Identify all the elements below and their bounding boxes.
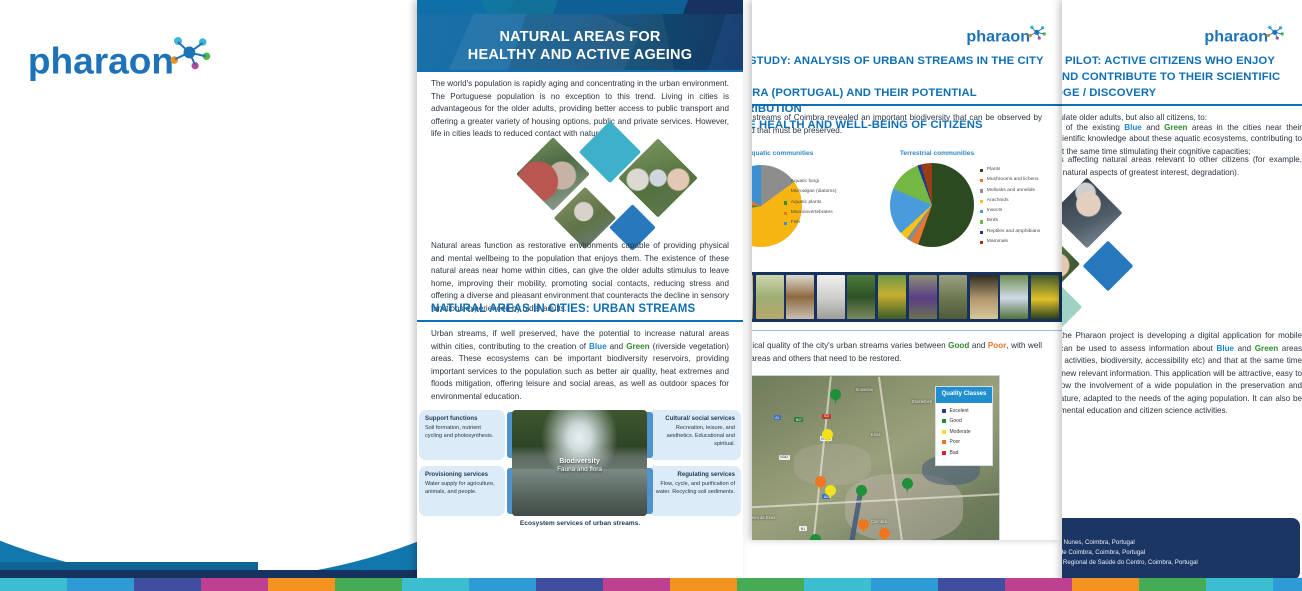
svg-text:pharaon: pharaon	[966, 27, 1030, 45]
map-legend-swatch	[942, 409, 946, 413]
photo-older-couple-smiling	[1062, 230, 1080, 298]
eco-card-cultural-text: Recreation, leisure, and aesthetics. Edu…	[667, 425, 735, 447]
legend-swatch	[980, 241, 983, 244]
legend-item: Mollusks and annelids	[980, 189, 1062, 194]
legend-swatch	[980, 179, 983, 182]
strip-segment	[1005, 578, 1072, 591]
legend-swatch	[980, 169, 983, 172]
strip-segment	[134, 578, 201, 591]
strip-segment	[938, 578, 1005, 591]
eco-card-regulating-title: Regulating services	[654, 471, 735, 480]
strip-segment	[0, 578, 67, 591]
legend-label: Fish	[791, 221, 800, 226]
pharaon-asterisk-logo	[170, 37, 210, 69]
cover-title-line1: PORTUGUESE PILOT	[24, 288, 384, 316]
species-thumb	[878, 275, 906, 319]
eco-card-cultural-title: Cultural/ social services	[654, 415, 735, 424]
legend-item: Fish	[784, 221, 889, 226]
map-label: Eiras	[871, 432, 881, 437]
legend-label: Arachnids	[987, 199, 1009, 204]
page2-header-line1: CASE STUDY: ANALYSIS OF URBAN STREAMS IN…	[752, 53, 1044, 85]
map-pin-good[interactable]	[902, 478, 913, 493]
eco-card-support-title: Support functions	[425, 415, 499, 424]
strip-segment	[201, 578, 268, 591]
page2-header-rule	[752, 104, 1062, 106]
page2-pharaon-logo: pharaon	[964, 24, 1050, 48]
legend-label: Aquatic fungi	[791, 180, 819, 185]
page-2: pharaon CASE STUDY: ANALYSIS OF URBAN	[752, 0, 1062, 540]
strip-segment	[804, 578, 871, 591]
cover-title: PORTUGUESE PILOT FACTSHEET	[24, 288, 384, 352]
svg-text:pharaon: pharaon	[1204, 27, 1268, 45]
eco-center-photo-stream: Biodiversity Fauna and flora	[512, 410, 647, 516]
legend-swatch	[784, 191, 787, 194]
map-road-shield: N1	[799, 526, 806, 531]
legend-item: Microalgae (diatoms)	[784, 190, 889, 195]
legend-item: Arachnids	[980, 199, 1062, 204]
eco-card-provisioning-text: Water supply for agriculture, animals, a…	[425, 481, 495, 495]
strip-segment	[1139, 578, 1206, 591]
species-thumb	[817, 275, 845, 319]
map-quality-legend: Quality Classes ExcelentGoodModeratePoor…	[935, 386, 993, 466]
page1-header-line2: HEALTHY AND ACTIVE AGEING	[417, 46, 743, 64]
pharaon-logo: pharaon	[26, 33, 216, 89]
page2-intro: The urban streams of Coimbra revealed an…	[752, 112, 1042, 137]
eco-card-provisioning: Provisioning services Water supply for a…	[419, 466, 505, 516]
strip-segment	[1273, 578, 1302, 591]
map-legend-swatch	[942, 430, 946, 434]
map-pin-poor[interactable]	[858, 519, 869, 534]
legend-label: Reptiles and amphibians	[987, 230, 1041, 235]
page2-water-quality-text: The ecological quality of the city's urb…	[752, 340, 1042, 365]
footer-line: Instituto Pedro Nunes, Coimbra, Portugal	[1062, 538, 1288, 548]
map-pin-good[interactable]	[810, 534, 821, 540]
map-legend-title: Quality Classes	[936, 387, 992, 403]
eco-center-title: Biodiversity	[559, 457, 600, 465]
legend-swatch	[784, 181, 787, 184]
chart-terrestrial-title: Terrestrial communities	[872, 150, 1002, 157]
legend-label: Plants	[987, 168, 1001, 173]
map-legend-item: Poor	[942, 439, 987, 445]
map-legend-label: Excelent	[950, 408, 969, 414]
legend-swatch	[784, 212, 787, 215]
map-road-shield: N17	[794, 417, 803, 422]
map-legend-swatch	[942, 451, 946, 455]
page2-coimbra-quality-map[interactable]: Souselas Brasfemes Eiras Ribeira de Eira…	[752, 375, 1000, 540]
species-thumb	[939, 275, 967, 319]
strip-segment	[737, 578, 804, 591]
map-label: Ribeira de Eiras	[752, 515, 775, 520]
strip-segment	[1206, 578, 1273, 591]
strip-segment	[335, 578, 402, 591]
page3-closing-text: In this context, the Pharaon project is …	[1062, 330, 1302, 418]
page3-bullet-3: Report problems affecting natural areas …	[1062, 154, 1302, 179]
species-thumb	[847, 275, 875, 319]
page1-header-title: NATURAL AREAS FOR HEALTHY AND ACTIVE AGE…	[417, 14, 743, 64]
legend-item: Birds	[980, 219, 1062, 224]
page1-header: NATURAL AREAS FOR HEALTHY AND ACTIVE AGE…	[417, 14, 743, 70]
pharaon-asterisk-logo	[1267, 26, 1284, 40]
page3-header-line1: PHARAON PILOT: ACTIVE CITIZENS WHO ENJOY	[1062, 53, 1302, 69]
legend-swatch	[980, 210, 983, 213]
species-thumb	[756, 275, 784, 319]
legend-label: Mushrooms and lichens	[987, 178, 1039, 183]
map-legend-item: Excelent	[942, 408, 987, 414]
decor-diamond-blue-4	[1083, 241, 1134, 292]
map-legend-swatch	[942, 419, 946, 423]
pharaon-asterisk-logo	[1029, 26, 1046, 40]
page1-intro: The world's population is rapidly aging …	[431, 78, 729, 141]
page3-header-title: PHARAON PILOT: ACTIVE CITIZENS WHO ENJOY…	[1062, 53, 1302, 101]
strip-segment	[871, 578, 938, 591]
eco-center-subtitle: Fauna and flora	[512, 466, 647, 475]
eco-card-support-text: Soil formation, nutrient cycling and pho…	[425, 425, 493, 439]
legend-swatch	[980, 231, 983, 234]
map-legend-label: Good	[950, 418, 962, 424]
page2-species-photo-strip	[752, 272, 1062, 322]
map-legend-item: Bad	[942, 450, 987, 456]
cover-page: pharaon PORTUGUESE PILOT FACTSH	[0, 0, 420, 585]
map-pin-good[interactable]	[856, 485, 867, 500]
page1-section-text: Urban streams, if well preserved, have t…	[431, 328, 729, 403]
species-thumb	[909, 275, 937, 319]
chart-aquatic-legend: Aquatic fungiMicroalgae (diatoms)Aquatic…	[784, 180, 889, 231]
page1-section-title: NATURAL AREAS IN CITIES: URBAN STREAMS	[431, 303, 695, 315]
legend-swatch	[980, 189, 983, 192]
map-pin-good[interactable]	[830, 389, 841, 404]
page1-header-line1: NATURAL AREAS FOR	[417, 28, 743, 46]
footer-line: Universidade de Coimbra, Coimbra, Portug…	[1062, 548, 1288, 558]
species-thumb	[786, 275, 814, 319]
legend-swatch	[784, 201, 787, 204]
legend-label: Mammals	[987, 240, 1008, 245]
strip-segment	[469, 578, 536, 591]
map-legend-label: Moderate	[950, 429, 971, 435]
eco-center-caption: Biodiversity Fauna and flora	[512, 457, 647, 475]
legend-item: Mammals	[980, 240, 1062, 245]
chart-terrestrial-legend: PlantsMushrooms and lichensMollusks and …	[980, 168, 1062, 250]
legend-item: Plants	[980, 168, 1062, 173]
page-1: NATURAL AREAS FOR HEALTHY AND ACTIVE AGE…	[417, 0, 743, 585]
page3-header-rule	[1062, 104, 1302, 106]
svg-text:pharaon: pharaon	[28, 39, 174, 81]
page1-section-rule	[417, 320, 743, 322]
chart-terrestrial-pie	[890, 163, 974, 247]
eco-card-regulating: Regulating services Flow, cycle, and pur…	[648, 466, 741, 516]
map-road-shield: IC2	[822, 414, 830, 419]
decor-diamond-mint	[1062, 286, 1082, 328]
legend-label: Aquatic plants	[791, 201, 822, 206]
map-label: Souselas	[856, 387, 873, 392]
species-thumb	[1000, 275, 1028, 319]
eco-card-regulating-text: Flow, cycle, and purification of water. …	[656, 481, 735, 495]
map-legend-swatch	[942, 440, 946, 444]
map-label: Coimbra	[871, 519, 887, 524]
legend-item: Reptiles and amphibians	[980, 230, 1062, 235]
legend-label: Microalgae (diatoms)	[791, 190, 837, 195]
bottom-colour-strip	[0, 578, 1302, 591]
legend-item: Aquatic plants	[784, 201, 889, 206]
eco-card-cultural: Cultural/ social services Recreation, le…	[648, 410, 741, 460]
strip-segment	[67, 578, 134, 591]
strip-segment	[268, 578, 335, 591]
factsheet-preview: pharaon PORTUGUESE PILOT FACTSH	[0, 0, 1302, 591]
map-legend-rows: ExcelentGoodModeratePoorBad	[936, 403, 992, 466]
species-thumb	[1031, 275, 1059, 319]
cover-title-line2: FACTSHEET	[24, 318, 384, 353]
strip-segment	[536, 578, 603, 591]
page-3: pharaon PHARAON PILOT: ACTIVE CITIZEN	[1062, 0, 1302, 585]
page2-divider	[752, 330, 1062, 331]
chart-aquatic-title: Aquatic communities	[752, 150, 860, 157]
legend-label: Macroinvertebrates	[791, 211, 833, 216]
legend-swatch	[980, 220, 983, 223]
map-label: Brasfemes	[912, 399, 932, 404]
page3-pharaon-logo: pharaon	[1202, 24, 1288, 48]
legend-swatch	[980, 200, 983, 203]
map-legend-item: Moderate	[942, 429, 987, 435]
strip-segment	[603, 578, 670, 591]
strip-segment	[670, 578, 737, 591]
eco-card-support: Support functions Soil formation, nutrie…	[419, 410, 505, 460]
page1-ecosystem-diagram: Support functions Soil formation, nutrie…	[417, 408, 743, 523]
map-urban-area	[794, 444, 871, 485]
map-legend-item: Good	[942, 418, 987, 424]
map-legend-label: Poor	[950, 439, 961, 445]
page3-partners-footer: Instituto Pedro Nunes, Coimbra, Portugal…	[1062, 518, 1300, 580]
map-road-shield: N342	[779, 455, 790, 460]
strip-segment	[402, 578, 469, 591]
eco-diagram-caption: Ecosystem services of urban streams.	[417, 520, 743, 527]
map-pin-moderate[interactable]	[825, 485, 836, 500]
strip-segment	[1072, 578, 1139, 591]
footer-line: Administração Regional de Saúde do Centr…	[1062, 558, 1288, 568]
photo-woman-with-tablet	[1062, 178, 1122, 249]
legend-item: Insects	[980, 209, 1062, 214]
map-pin-poor[interactable]	[879, 528, 890, 540]
species-thumb	[752, 275, 753, 319]
eco-card-provisioning-title: Provisioning services	[425, 471, 499, 480]
legend-label: Insects	[987, 209, 1003, 214]
legend-label: Birds	[987, 219, 998, 224]
map-pin-moderate[interactable]	[822, 429, 833, 444]
map-road-shield: A1	[774, 415, 781, 420]
legend-item: Macroinvertebrates	[784, 211, 889, 216]
map-legend-label: Bad	[950, 450, 959, 456]
page3-header-line2: NATURE AND CONTRIBUTE TO THEIR SCIENTIFI…	[1062, 69, 1302, 85]
legend-item: Mushrooms and lichens	[980, 178, 1062, 183]
page1-header-rule	[417, 70, 743, 72]
page3-header-line3: KNOWLEDGE / DISCOVERY	[1062, 85, 1302, 101]
legend-swatch	[784, 222, 787, 225]
legend-label: Mollusks and annelids	[987, 189, 1035, 194]
species-thumb	[970, 275, 998, 319]
legend-item: Aquatic fungi	[784, 180, 889, 185]
